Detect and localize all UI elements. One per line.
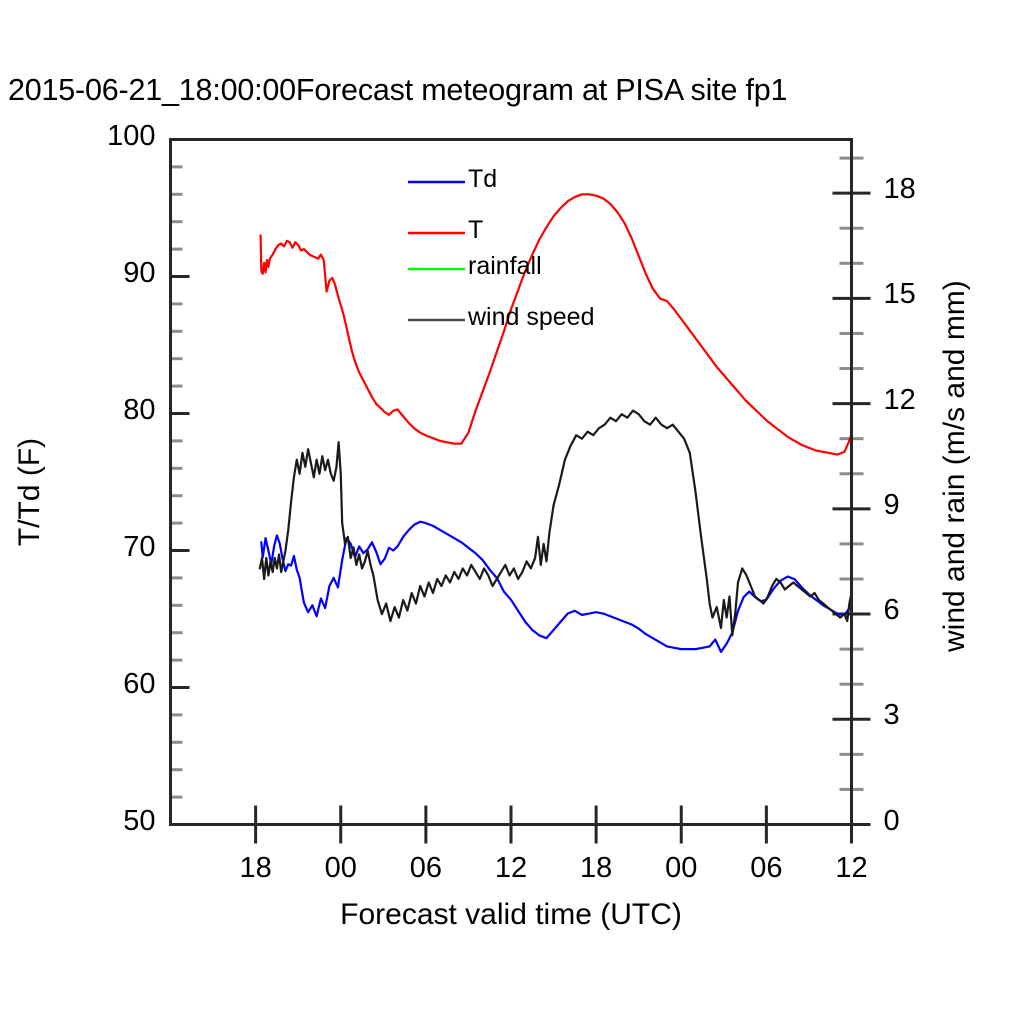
x-axis-tick-label: 18	[216, 852, 296, 885]
legend-label-rainfall: rainfall	[468, 252, 542, 281]
y-axis-tick-label-right: 3	[884, 699, 974, 732]
series-line-Td	[261, 522, 851, 652]
y-axis-tick-label-left: 60	[66, 668, 156, 701]
meteogram-figure: 2015-06-21_18:00:00Forecast meteogram at…	[0, 0, 1024, 1024]
y-axis-tick-label-left: 70	[66, 531, 156, 564]
y-axis-tick-label-left: 100	[66, 120, 156, 153]
y-axis-tick-label-left: 80	[66, 394, 156, 427]
y-axis-tick-label-right: 0	[884, 805, 974, 838]
y-axis-tick-label-left: 90	[66, 257, 156, 290]
y-axis-tick-label-right: 6	[884, 594, 974, 627]
y-axis-major-ticks-left	[171, 140, 190, 825]
series-lines	[256, 194, 852, 824]
x-axis-tick-label: 06	[386, 852, 466, 885]
legend-sample-lines	[408, 182, 465, 320]
x-axis-tick-label: 00	[641, 852, 721, 885]
x-axis-tick-label: 12	[471, 852, 551, 885]
y-axis-tick-label-right: 15	[884, 278, 974, 311]
y-axis-tick-label-right: 18	[884, 173, 974, 206]
x-axis-tick-label: 06	[726, 852, 806, 885]
plot-frame	[171, 140, 852, 825]
y-axis-tick-label-right: 9	[884, 489, 974, 522]
x-axis-tick-label: 12	[812, 852, 892, 885]
legend-label-Td: Td	[468, 165, 497, 194]
y-axis-minor-ticks-left	[171, 167, 183, 797]
x-axis-tick-label: 18	[556, 852, 636, 885]
x-axis-tick-label: 00	[301, 852, 381, 885]
legend-label-wind-speed: wind speed	[468, 303, 594, 332]
y-axis-tick-label-left: 50	[66, 805, 156, 838]
y-axis-tick-label-right: 12	[884, 384, 974, 417]
legend-label-T: T	[468, 216, 483, 245]
